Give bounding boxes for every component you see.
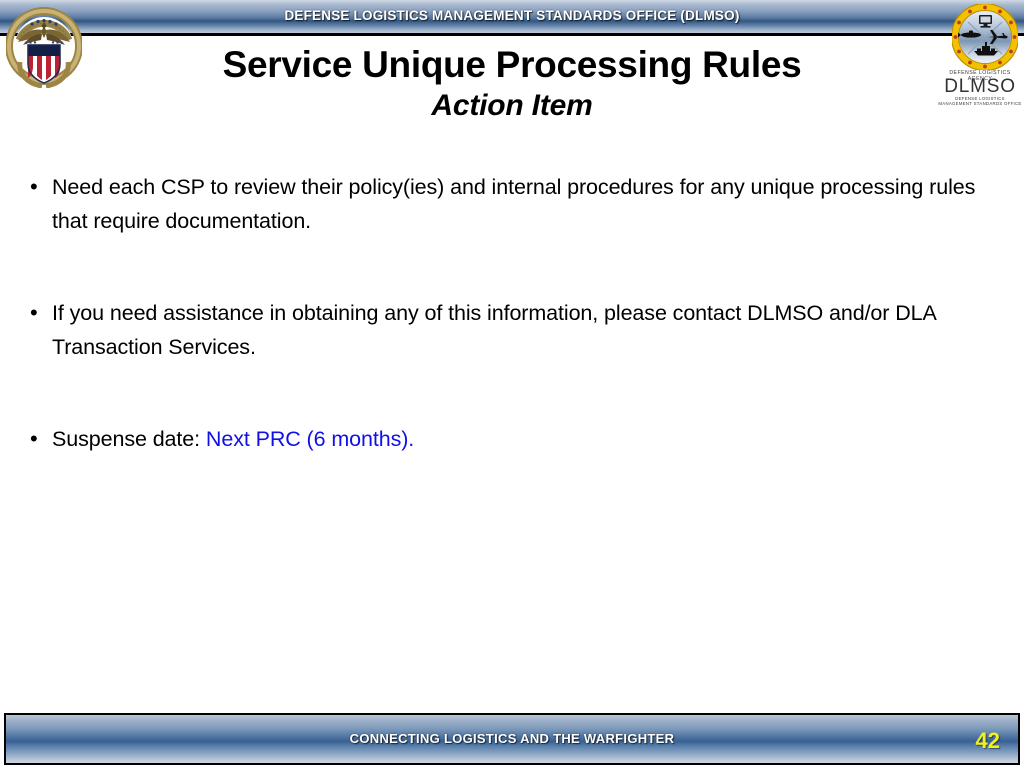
bullet-text: If you need assistance in obtaining any … bbox=[52, 296, 992, 364]
top-banner: DEFENSE LOGISTICS MANAGEMENT STANDARDS O… bbox=[0, 0, 1024, 34]
banner-divider-rule bbox=[0, 33, 1024, 36]
slide-body: • Need each CSP to review their policy(i… bbox=[26, 170, 996, 514]
page-subtitle: Action Item bbox=[0, 88, 1024, 124]
list-item: • Need each CSP to review their policy(i… bbox=[26, 170, 996, 238]
bullet-marker-icon: • bbox=[26, 296, 52, 330]
bullet-text-main: Need each CSP to review their policy(ies… bbox=[52, 175, 975, 233]
list-item: • Suspense date: Next PRC (6 months). bbox=[26, 422, 996, 456]
bullet-marker-icon: • bbox=[26, 422, 52, 456]
bullet-text: Suspense date: Next PRC (6 months). bbox=[52, 422, 996, 456]
footer-tagline: CONNECTING LOGISTICS AND THE WARFIGHTER bbox=[6, 715, 1018, 763]
banner-title: DEFENSE LOGISTICS MANAGEMENT STANDARDS O… bbox=[0, 0, 1024, 34]
dlmso-logo: DEFENSE LOGISTICS AGENCY DLMSO DEFENSE L… bbox=[938, 2, 1022, 110]
dlmso-emblem-icon bbox=[952, 4, 1018, 70]
title-block: Service Unique Processing Rules Action I… bbox=[0, 42, 1024, 124]
dla-seal-icon bbox=[6, 4, 82, 88]
bullet-text: Need each CSP to review their policy(ies… bbox=[52, 170, 992, 238]
footer-bar: CONNECTING LOGISTICS AND THE WARFIGHTER … bbox=[4, 713, 1020, 765]
page-number: 42 bbox=[976, 715, 1000, 763]
dlmso-office-line: DEFENSE LOGISTICS MANAGEMENT STANDARDS O… bbox=[938, 96, 1022, 107]
dlmso-wordmark: DLMSO bbox=[938, 76, 1022, 98]
bullet-text-main: Suspense date: bbox=[52, 427, 206, 451]
suspense-date-value: Next PRC (6 months). bbox=[206, 427, 414, 451]
bullet-marker-icon: • bbox=[26, 170, 52, 204]
list-item: • If you need assistance in obtaining an… bbox=[26, 296, 996, 364]
bullet-text-main: If you need assistance in obtaining any … bbox=[52, 301, 936, 359]
page-title: Service Unique Processing Rules bbox=[0, 42, 1024, 88]
